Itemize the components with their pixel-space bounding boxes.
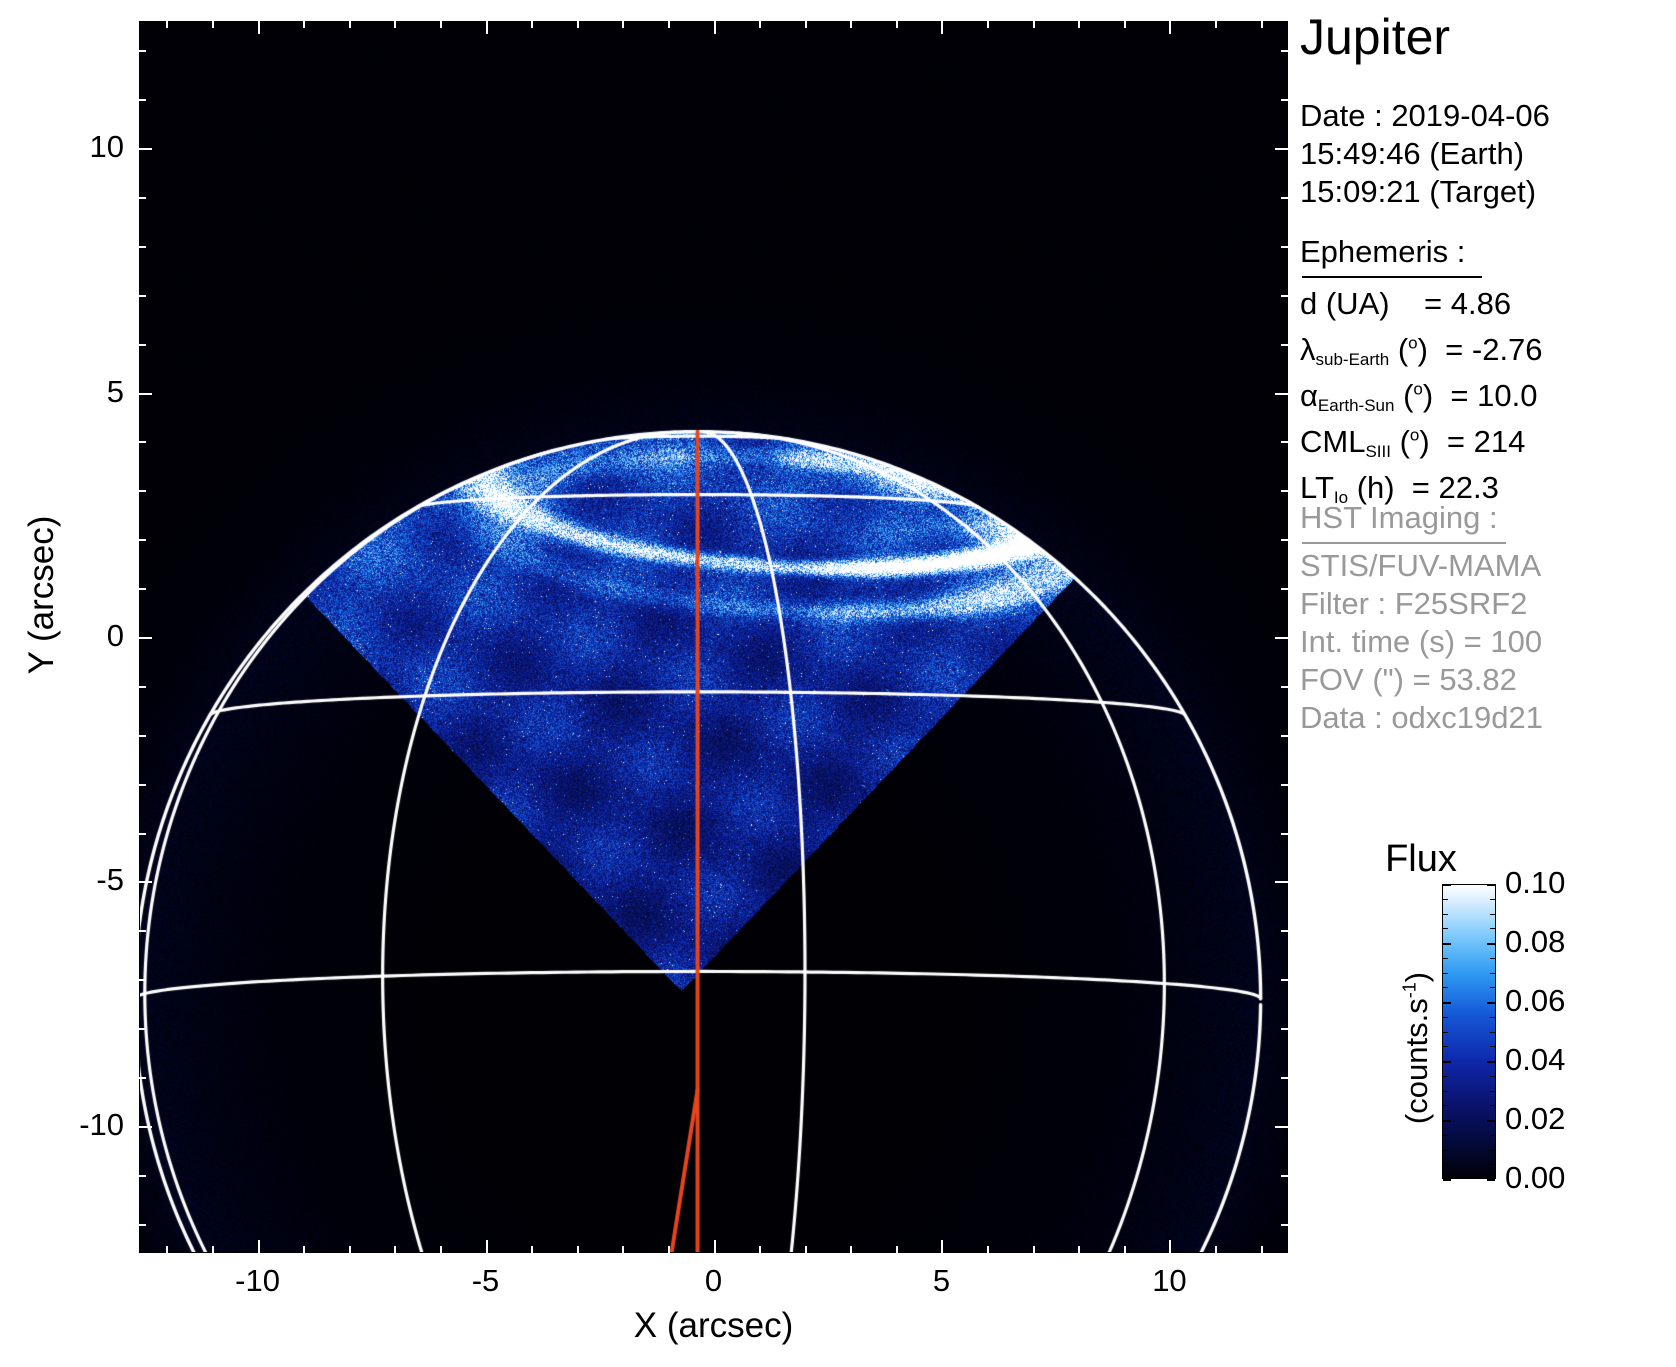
hst-dataset: Data : odxc19d21 (1300, 700, 1543, 736)
colorbar-minor-tickmark (1443, 928, 1448, 929)
colorbar-minor-tickmark (1490, 1179, 1495, 1180)
x-minor-tickmark (1261, 21, 1263, 28)
observation-time-target: 15:09:21 (Target) (1300, 174, 1536, 211)
x-minor-tickmark (622, 1246, 624, 1253)
x-tickmark (258, 1240, 260, 1253)
y-minor-tickmark (1281, 441, 1288, 443)
y-minor-tickmark (1281, 344, 1288, 346)
y-minor-tickmark (139, 197, 146, 199)
colorbar-minor-tickmark (1490, 1135, 1495, 1136)
x-tickmark (486, 1240, 488, 1253)
colorbar-unit-label: (counts.s-1) (1399, 908, 1435, 1188)
colorbar-minor-tickmark (1490, 1076, 1495, 1077)
colorbar-minor-tickmark (1490, 1120, 1495, 1121)
y-minor-tickmark (139, 735, 146, 737)
y-minor-tickmark (1281, 295, 1288, 297)
y-tickmark (1275, 393, 1288, 395)
x-minor-tickmark (1078, 21, 1080, 28)
x-minor-tickmark (531, 1246, 533, 1253)
x-minor-tickmark (1124, 1246, 1126, 1253)
colorbar-minor-tickmark (1490, 1105, 1495, 1106)
colorbar-tick-0-06: 0.06 (1505, 983, 1565, 1019)
x-minor-tickmark (1033, 1246, 1035, 1253)
y-minor-tickmark (139, 344, 146, 346)
hst-fov: FOV (") = 53.82 (1300, 662, 1517, 698)
colorbar-minor-tickmark (1490, 987, 1495, 988)
x-minor-tickmark (1033, 21, 1035, 28)
y-minor-tickmark (139, 930, 146, 932)
colorbar-minor-tickmark (1443, 1120, 1448, 1121)
y-minor-tickmark (1281, 197, 1288, 199)
x-minor-tickmark (303, 21, 305, 28)
colorbar-minor-tickmark (1443, 1135, 1448, 1136)
flux-colorbar (1442, 884, 1496, 1179)
x-minor-tickmark (577, 1246, 579, 1253)
colorbar-minor-tickmark (1490, 1150, 1495, 1151)
x-minor-tickmark (805, 21, 807, 28)
x-minor-tickmark (1261, 1246, 1263, 1253)
x-minor-tickmark (577, 21, 579, 28)
colorbar-minor-tickmark (1443, 884, 1448, 885)
observation-time-earth: 15:49:46 (Earth) (1300, 136, 1524, 173)
target-title: Jupiter (1300, 12, 1450, 62)
x-tickmark (258, 21, 260, 34)
colorbar-minor-tickmark (1490, 943, 1495, 944)
x-minor-tickmark (896, 21, 898, 28)
colorbar-minor-tickmark (1443, 1061, 1448, 1062)
x-minor-tickmark (1078, 1246, 1080, 1253)
y-minor-tickmark (1281, 735, 1288, 737)
ephemeris-heading: Ephemeris : (1300, 234, 1465, 270)
colorbar-minor-tickmark (1490, 899, 1495, 900)
x-minor-tickmark (759, 21, 761, 28)
y-minor-tickmark (139, 295, 146, 297)
y-minor-tickmark (139, 588, 146, 590)
x-minor-tickmark (850, 1246, 852, 1253)
y-tickmark (139, 637, 152, 639)
x-minor-tickmark (440, 21, 442, 28)
y-minor-tickmark (1281, 784, 1288, 786)
colorbar-tick-0-08: 0.08 (1505, 924, 1565, 960)
x-minor-tickmark (668, 21, 670, 28)
colorbar-unit-text: (counts.s (1399, 998, 1434, 1124)
y-tickmark (1275, 881, 1288, 883)
y-minor-tickmark (139, 50, 146, 52)
x-minor-tickmark (1215, 21, 1217, 28)
y-minor-tickmark (139, 686, 146, 688)
colorbar-minor-tickmark (1490, 884, 1495, 885)
y-minor-tickmark (1281, 979, 1288, 981)
hst-rule (1302, 542, 1506, 544)
colorbar-minor-tickmark (1443, 1150, 1448, 1151)
x-tickmark (941, 21, 943, 34)
y-minor-tickmark (139, 99, 146, 101)
colorbar-minor-tickmark (1443, 1002, 1448, 1003)
x-tick-label-5: 5 (881, 1263, 1001, 1299)
y-minor-tickmark (1281, 490, 1288, 492)
ephemeris-rule (1302, 276, 1482, 278)
colorbar-minor-tickmark (1490, 1046, 1495, 1047)
colorbar-minor-tickmark (1443, 914, 1448, 915)
colorbar-unit-tail: ) (1399, 972, 1434, 982)
aurora-image-plot (139, 21, 1288, 1253)
colorbar-tick-0-04: 0.04 (1505, 1042, 1565, 1078)
y-minor-tickmark (1281, 930, 1288, 932)
y-minor-tickmark (1281, 1224, 1288, 1226)
y-minor-tickmark (1281, 246, 1288, 248)
colorbar-minor-tickmark (1490, 958, 1495, 959)
x-tick-label-10: 10 (1109, 1263, 1229, 1299)
colorbar-tick-0-10: 0.10 (1505, 865, 1565, 901)
x-tickmark (714, 21, 716, 34)
ephemeris-row-cml-siii: CMLSIII (o) = 214 (1300, 424, 1525, 460)
y-tick-label-10: 10 (4, 129, 124, 165)
y-minor-tickmark (1281, 1028, 1288, 1030)
observation-date: Date : 2019-04-06 (1300, 98, 1550, 135)
y-minor-tickmark (139, 490, 146, 492)
x-minor-tickmark (349, 1246, 351, 1253)
x-tickmark (714, 1240, 716, 1253)
colorbar-minor-tickmark (1490, 914, 1495, 915)
x-tickmark (486, 21, 488, 34)
colorbar-minor-tickmark (1443, 1017, 1448, 1018)
colorbar-minor-tickmark (1490, 1091, 1495, 1092)
y-tickmark (139, 1126, 152, 1128)
x-tick-label-neg10: -10 (198, 1263, 318, 1299)
colorbar-minor-tickmark (1490, 973, 1495, 974)
y-minor-tickmark (1281, 1077, 1288, 1079)
colorbar-minor-tickmark (1490, 1002, 1495, 1003)
x-minor-tickmark (212, 21, 214, 28)
x-axis-label: X (arcsec) (139, 1306, 1288, 1346)
x-minor-tickmark (394, 1246, 396, 1253)
ephemeris-row--earth-sun: αEarth-Sun (o) = 10.0 (1300, 378, 1537, 414)
colorbar-minor-tickmark (1443, 1032, 1448, 1033)
colorbar-tick-0-02: 0.02 (1505, 1101, 1565, 1137)
x-minor-tickmark (805, 1246, 807, 1253)
x-minor-tickmark (349, 21, 351, 28)
x-minor-tickmark (896, 1246, 898, 1253)
x-tick-label-neg5: -5 (426, 1263, 546, 1299)
x-tick-label-0: 0 (654, 1263, 774, 1299)
colorbar-minor-tickmark (1443, 1164, 1448, 1165)
x-minor-tickmark (394, 21, 396, 28)
colorbar-minor-tickmark (1490, 1061, 1495, 1062)
y-minor-tickmark (1281, 1175, 1288, 1177)
y-minor-tickmark (139, 441, 146, 443)
x-minor-tickmark (166, 1246, 168, 1253)
colorbar-minor-tickmark (1443, 1105, 1448, 1106)
x-minor-tickmark (1215, 1246, 1217, 1253)
ephemeris-row--sub-earth: λsub-Earth (o) = -2.76 (1300, 332, 1543, 368)
colorbar-unit-exponent: -1 (1400, 982, 1420, 998)
y-minor-tickmark (139, 246, 146, 248)
y-minor-tickmark (139, 539, 146, 541)
colorbar-minor-tickmark (1490, 1164, 1495, 1165)
colorbar-minor-tickmark (1443, 1091, 1448, 1092)
y-minor-tickmark (139, 1028, 146, 1030)
y-minor-tickmark (139, 1077, 146, 1079)
hst-filter: Filter : F25SRF2 (1300, 586, 1527, 622)
y-minor-tickmark (139, 833, 146, 835)
y-minor-tickmark (1281, 686, 1288, 688)
colorbar-minor-tickmark (1443, 1076, 1448, 1077)
colorbar-minor-tickmark (1490, 1032, 1495, 1033)
x-minor-tickmark (166, 21, 168, 28)
colorbar-minor-tickmark (1443, 899, 1448, 900)
y-minor-tickmark (139, 784, 146, 786)
y-minor-tickmark (139, 1224, 146, 1226)
y-minor-tickmark (1281, 99, 1288, 101)
x-minor-tickmark (987, 21, 989, 28)
y-tickmark (139, 393, 152, 395)
y-tick-label-5: 5 (4, 374, 124, 410)
y-tickmark (139, 881, 152, 883)
colorbar-minor-tickmark (1443, 987, 1448, 988)
y-minor-tickmark (139, 979, 146, 981)
colorbar-tick-0-00: 0.00 (1505, 1160, 1565, 1196)
x-minor-tickmark (987, 1246, 989, 1253)
x-minor-tickmark (622, 21, 624, 28)
aurora-image-canvas (139, 21, 1288, 1253)
y-minor-tickmark (1281, 50, 1288, 52)
y-tickmark (1275, 1126, 1288, 1128)
x-minor-tickmark (1124, 21, 1126, 28)
y-tickmark (1275, 637, 1288, 639)
colorbar-minor-tickmark (1490, 928, 1495, 929)
colorbar-minor-tickmark (1443, 973, 1448, 974)
colorbar-title: Flux (1331, 838, 1511, 881)
colorbar-minor-tickmark (1443, 1179, 1448, 1180)
y-tick-label-neg10: -10 (4, 1107, 124, 1143)
x-minor-tickmark (531, 21, 533, 28)
hst-heading: HST Imaging : (1300, 500, 1498, 536)
colorbar-minor-tickmark (1443, 958, 1448, 959)
y-minor-tickmark (1281, 588, 1288, 590)
colorbar-minor-tickmark (1490, 1017, 1495, 1018)
hst-int-time: Int. time (s) = 100 (1300, 624, 1542, 660)
y-minor-tickmark (1281, 539, 1288, 541)
y-tickmark (139, 148, 152, 150)
x-minor-tickmark (212, 1246, 214, 1253)
x-tickmark (1169, 1240, 1171, 1253)
x-minor-tickmark (303, 1246, 305, 1253)
x-minor-tickmark (850, 21, 852, 28)
y-axis-label: Y (arcsec) (22, 455, 62, 735)
colorbar-minor-tickmark (1443, 943, 1448, 944)
x-minor-tickmark (759, 1246, 761, 1253)
x-tickmark (941, 1240, 943, 1253)
y-tickmark (1275, 148, 1288, 150)
x-minor-tickmark (668, 1246, 670, 1253)
y-minor-tickmark (139, 1175, 146, 1177)
x-tickmark (1169, 21, 1171, 34)
y-tick-label-neg5: -5 (4, 862, 124, 898)
colorbar-minor-tickmark (1443, 1046, 1448, 1047)
y-minor-tickmark (1281, 833, 1288, 835)
ephemeris-row-d: d (UA) = 4.86 (1300, 286, 1511, 322)
x-minor-tickmark (440, 1246, 442, 1253)
hst-detector: STIS/FUV-MAMA (1300, 548, 1541, 584)
